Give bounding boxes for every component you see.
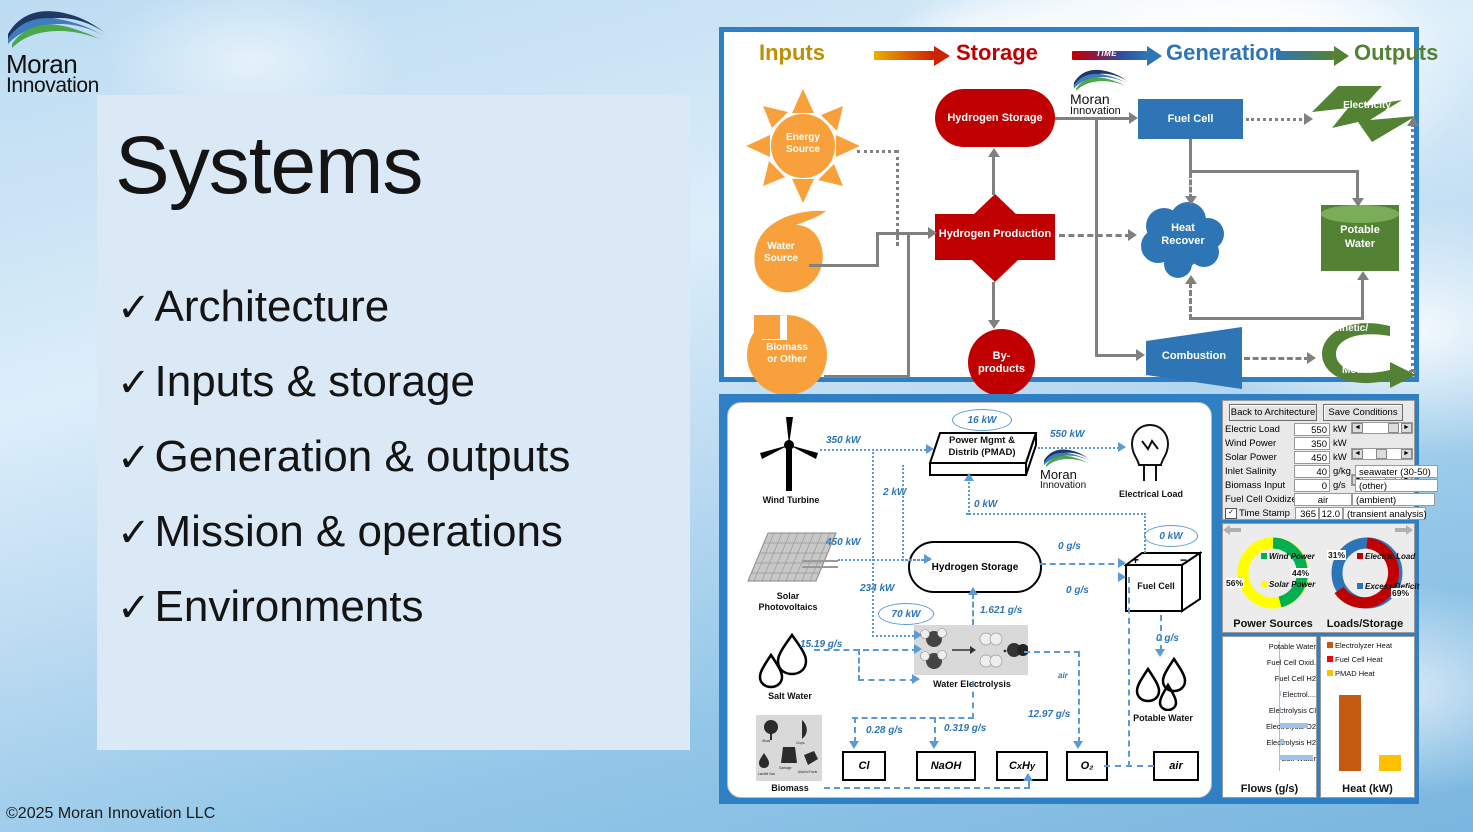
flow-pmad-to-electrolysis: 234 kW [860,583,894,594]
logo-wave-icon [1040,447,1094,469]
box-o2: O₂ [1066,751,1108,781]
flows-category-label: Fuel Cell H2 [1262,674,1316,683]
line-electrolysis-o2 [1024,651,1080,653]
control-label: Fuel Cell Oxidizer [1225,494,1294,505]
control-unit: kW [1330,452,1355,463]
pct-electric-load: 69% [1391,588,1410,598]
arrowhead-electrolysis-in [914,630,922,640]
connector-fuelcell-to-electricity [1246,118,1308,121]
arrowhead-o2-in [1073,741,1083,749]
svg-text:Crops: Crops [796,741,805,745]
connector-storage-to-fuelcell [1055,117,1131,120]
flow-pmad-to-load: 550 kW [1050,429,1084,440]
electric-load-slider[interactable]: ◄ ► [1351,422,1413,434]
list-item-label: Environments [155,570,424,644]
check-icon: ✓ [117,346,151,420]
logo-line-1: Moran [6,52,106,76]
hydrogen-production-top-point [972,194,1018,216]
list-item-label: Architecture [155,270,390,344]
line-products-bus [852,717,974,719]
connector-production-to-byproducts [992,282,995,322]
node-potable-water-label: PotableWater [1321,223,1399,251]
legend-swatch [1357,583,1363,589]
control-label: Electric Load [1225,424,1294,435]
control-label: Inlet Salinity [1225,466,1294,477]
logo-wave-icon [6,6,106,52]
arrowhead-fc-in-air [1118,572,1126,582]
connector-water-to-production [809,264,879,267]
flows-bar [1280,739,1284,744]
biomass-collage-icon: WoodCrops Garbage Landfill GasAlcohol Fu… [756,715,822,781]
arrowhead-heat-in-2 [1185,275,1197,284]
node-fuel-cell: Fuel Cell [1138,99,1243,139]
time-stamp-checkbox[interactable]: ✓ [1225,508,1237,519]
fuel-cell-oxidizer-field[interactable]: air [1294,493,1352,506]
legend-swatch [1327,656,1333,662]
list-item: ✓ Mission & operations [117,495,677,570]
control-unit: g/s [1330,480,1355,491]
list-item: ✓ Architecture [117,270,677,345]
connector-water-riser [876,232,879,267]
arch-header-inputs: Inputs [759,40,825,66]
flows-bar [1280,707,1281,712]
flows-bar-chart: Potable Water Fuel Cell Oxid. Fuel Cell … [1222,636,1317,798]
arrowhead-pmad-in-wind [926,444,934,454]
arrow-generation-to-outputs [1276,51,1334,60]
check-icon: ✓ [117,496,151,570]
potable-water-drops-icon [1134,657,1190,711]
flows-category-label: Fuel Cell Oxid. [1262,658,1316,667]
back-to-architecture-button[interactable]: Back to Architecture [1229,404,1317,421]
legend-swatch [1261,553,1267,559]
arrowhead-production-in [928,227,937,239]
control-row-biomass-input: Biomass Input 0 g/s (other) [1225,478,1438,492]
node-biomass: Biomassor Other [746,342,828,366]
flows-category-label: Electrolysis Cl [1262,706,1316,715]
line-salt-water-to-electrolysis [858,679,916,681]
logo-line-2: Innovation [1040,481,1094,491]
legend-electrolyzer-heat: Electrolyzer Heat [1327,641,1392,650]
arch-header-generation: Generation [1166,40,1282,66]
arrowhead-storage-in-sch [924,554,932,564]
pct-wind-power: 44% [1291,568,1310,578]
line-electrolysis-down [972,681,974,719]
flow-o2-to-fc: 0 g/s [1066,585,1089,596]
control-row-electric-load: Electric Load 550 kW [1225,422,1355,436]
logo-wave-icon [1070,67,1132,93]
node-hydrogen-storage-sch: Hydrogen Storage [908,541,1042,593]
logo-line-2: Innovation [1070,106,1132,117]
solar-power-field[interactable]: 450 [1294,451,1330,464]
label-solar-pv: SolarPhotovoltaics [742,591,834,613]
control-row-fuel-cell-oxidizer: Fuel Cell Oxidizer air (ambient) [1225,492,1435,506]
arrowhead-fc-in-h2 [1118,558,1126,568]
flow-naoh-out: 0.319 g/s [944,723,986,734]
biomass-input-field[interactable]: 0 [1294,479,1330,492]
label-salt-water: Salt Water [750,691,830,701]
moran-innovation-logo: Moran Innovation [6,6,106,96]
arrowhead-electricity-in [1304,113,1313,125]
box-air: air [1153,751,1199,781]
pct-solar-power: 56% [1225,578,1244,588]
slider-right-arrow[interactable]: ► [1401,449,1412,459]
list-item: ✓ Generation & outputs [117,420,677,495]
arrowhead-pmad-in-fc [964,473,974,481]
fuel-cell-minus-terminal: − [1180,553,1187,567]
slider-right-arrow[interactable]: ► [1401,423,1412,433]
arrowhead-naoh-in [929,741,939,749]
control-row-solar-power: Solar Power 450 kW [1225,450,1355,464]
label-potable-water-sch: Potable Water [1120,713,1206,723]
control-row-wind-power: Wind Power 350 kW [1225,436,1355,450]
connector-biomass [824,375,910,378]
arrowhead-cl-in [849,741,859,749]
flow-wind-to-pmad: 350 kW [826,435,860,446]
legend-swatch [1327,642,1333,648]
wind-turbine-icon [758,415,820,493]
control-row-time-stamp: ✓ Time Stamp 365 12.0 (transient analysi… [1225,506,1426,520]
arrowhead-potable-in-2 [1357,271,1369,280]
architecture-logo: Moran Innovation [1070,67,1132,117]
connector-to-combustion [1095,354,1139,357]
conditions-control-panel: Back to Architecture Save Conditions Ele… [1222,400,1415,520]
node-hydrogen-production-label: Hydrogen Production [935,228,1055,240]
electric-load-field[interactable]: 550 [1294,423,1330,436]
flow-solar-to-pmad: 450 kW [826,537,860,548]
electricity-bolt-icon [1312,84,1424,144]
fuel-cell-oxidizer-note: (ambient) [1352,493,1435,506]
node-electricity: Electricity [1324,100,1410,111]
control-label: Solar Power [1225,452,1294,463]
flows-category-label: Electrolysis H2 [1262,738,1316,747]
page-title: Systems [115,123,422,209]
legend-pmad-heat: PMAD Heat [1327,669,1375,678]
inlet-salinity-note: seawater (30-50) [1355,465,1438,478]
line-pmad-to-load [1038,447,1122,449]
node-combustion: Combustion [1146,350,1242,362]
connector-biomass-riser [907,235,910,378]
biomass-input-note: (other) [1355,479,1438,492]
svg-text:Landfill Gas: Landfill Gas [758,772,775,776]
line-salt-water-in [814,649,918,651]
heat-bar-electrolyzer [1339,695,1361,771]
label-wind-turbine: Wind Turbine [746,495,836,505]
connector-combustion-to-heat [1189,282,1192,320]
arrow-inputs-to-storage [874,51,934,60]
donut-charts-widget: Wind Power Solar Power 44% 56% Power Sou… [1222,523,1415,633]
label-biomass: Biomass [758,783,822,793]
check-icon: ✓ [117,571,151,645]
control-unit: kW [1330,438,1355,449]
cylinder-top [1321,205,1399,223]
wind-power-slider[interactable]: ◄ ► [1351,448,1413,460]
dashboard-panel: Wind Turbine SolarPhotovoltaics [719,394,1419,804]
node-heat-recover: HeatRecover [1138,222,1228,248]
arrowhead-electrolysis-in-water [914,644,922,654]
box-cl: Cl [842,751,886,781]
time-label: TIME [1096,49,1117,58]
legend-electric-load: Electric Load [1357,552,1415,561]
box-naoh: NaOH [916,751,976,781]
flow-electrolysis-heat: 70 kW [892,609,921,620]
connector-production-to-storage [992,155,995,195]
label-fuel-cell-sch: Fuel Cell [1126,581,1186,591]
arch-header-outputs: Outputs [1354,40,1438,66]
control-label: Time Stamp [1239,508,1295,519]
heat-bar-chart: Electrolyzer Heat Fuel Cell Heat PMAD He… [1320,636,1415,798]
line-to-cl [854,717,856,743]
node-water-source: WaterSource [750,241,812,265]
time-stamp-hour-field[interactable]: 12.0 [1319,507,1343,520]
line-solar-riser [872,449,874,561]
line-o2-down [1078,651,1080,743]
heat-chart-title: Heat (kW) [1321,783,1414,795]
list-item-label: Inputs & storage [155,345,475,419]
arrowhead-potable-in [1352,198,1364,207]
water-electrolysis-icon [914,625,1028,675]
arrowhead-kinetic-in [1307,352,1316,364]
line-fc-to-pmad-h [966,513,1146,515]
time-stamp-note: (transient analysis) [1343,507,1426,520]
arch-header-storage: Storage [956,40,1038,66]
legend-swatch [1357,553,1363,559]
arrow-inputs-to-storage-tip [934,46,950,66]
arrowhead-combustion-in [1136,349,1145,361]
svg-text:Garbage: Garbage [779,766,792,770]
flow-pmad-loss: 16 kW [968,415,997,426]
connector-combustion-to-potable [1361,278,1364,320]
arrowhead-electricity-return [1407,117,1419,126]
line-fc-to-potable [1160,615,1162,651]
node-byproducts: By-products [968,329,1035,396]
connector-fuelcell-bus [1189,170,1359,173]
arrowhead-byproducts-in [988,320,1000,329]
list-item: ✓ Environments [117,570,677,645]
connector-combustion-to-kinetic [1244,357,1310,360]
loads-storage-title: Loads/Storage [1317,618,1413,630]
fuel-cell-plus-terminal: + [1132,553,1139,567]
flow-o2-out: 12.97 g/s [1028,709,1070,720]
list-item-label: Generation & outputs [155,420,571,494]
line-fc-riser [1144,513,1146,553]
arrowhead-storage-in [988,148,1000,157]
flows-bar [1280,723,1308,728]
arrowhead-heat-recover-in [1185,196,1197,205]
slider-thumb[interactable] [1376,449,1387,459]
label-pmad: Power Mgmt &Distrib (PMAD) [932,435,1032,459]
arrowhead-electrolysis-in-salt [912,674,920,684]
line-pmad-to-storage-v [902,465,904,561]
bullet-list: ✓ Architecture ✓ Inputs & storage ✓ Gene… [117,270,677,645]
slider-left-arrow[interactable]: ◄ [1352,423,1363,433]
flows-bar [1280,691,1281,696]
arrowhead-load-in [1118,442,1126,452]
check-icon: ✓ [117,421,151,495]
line-air-riser [1128,577,1130,767]
logo-line-2: Innovation [6,76,106,96]
svg-text:Alcohol Fuels: Alcohol Fuels [798,770,818,774]
system-schematic: Wind Turbine SolarPhotovoltaics [727,402,1212,798]
arrow-generation-to-outputs-tip [1334,46,1349,66]
wind-power-field[interactable]: 350 [1294,437,1330,450]
line-wind-pmad [820,449,930,451]
legend-solar-power: Solar Power [1261,580,1315,589]
connector-production-to-heat [1059,234,1131,237]
flows-category-label: Electrol.... [1262,690,1316,699]
node-hydrogen-storage: Hydrogen Storage [935,89,1055,147]
list-item: ✓ Inputs & storage [117,345,677,420]
arrowhead-heat-in [1128,229,1137,241]
flows-bar [1280,755,1313,760]
node-kinetic: Kinetic/ [1332,323,1368,334]
loads-storage-donut [1323,534,1411,612]
slide-canvas: Moran Innovation Systems ✓ Architecture … [0,0,1473,832]
flow-cl-out: 0.28 g/s [866,725,903,736]
control-unit: g/kg [1330,466,1355,477]
svg-text:Wood: Wood [762,739,770,743]
flows-category-label: Potable Water [1262,642,1316,651]
flow-h2-to-fc: 0 g/s [1058,541,1081,552]
line-electrolysis-to-storage [972,593,974,625]
connector-rail-vertical [896,150,899,245]
label-electrical-load: Electrical Load [1114,489,1188,499]
legend-wind-power: Wind Power [1261,552,1315,561]
check-icon: ✓ [117,271,151,345]
power-sources-title: Power Sources [1225,618,1321,630]
line-biomass-out [824,787,1030,789]
electrolysis-heat-cloud: 70 kW [878,603,934,625]
inlet-salinity-field[interactable]: 40 [1294,465,1330,478]
legend-swatch [1261,581,1267,587]
flows-chart-title: Flows (g/s) [1223,783,1316,795]
connector-to-production [876,232,931,235]
arrowhead-storage-in-h2 [968,587,978,595]
control-label: Biomass Input [1225,480,1294,491]
hydrogen-production-bottom-point [972,260,1018,282]
flow-fc-heat: 0 kW [1159,531,1182,542]
box-cxhy: CxHy [996,751,1048,781]
legend-swatch [1327,670,1333,676]
line-fc-to-pmad-v [968,479,970,515]
connector-storage-to-combustion [1095,117,1098,357]
control-row-inlet-salinity: Inlet Salinity 40 g/kg seawater (30-50) [1225,464,1438,478]
connector-energy-to-rail [857,150,897,153]
connector-combustion-bus [1189,317,1364,320]
connector-motive-return-v [1411,124,1414,372]
slider-thumb[interactable] [1388,423,1399,433]
fuel-cell-heat-cloud: 0 kW [1144,525,1198,547]
flow-air-stream: air [1058,671,1068,680]
legend-fuel-cell-heat: Fuel Cell Heat [1327,655,1383,664]
line-salt-water-down [858,649,860,681]
content-panel: Systems ✓ Architecture ✓ Inputs & storag… [97,95,690,750]
pct-excess-deficit: 31% [1327,550,1346,560]
copyright-footer: ©2025 Moran Innovation LLC [6,805,215,823]
line-to-naoh [934,717,936,743]
schematic-logo: Moran Innovation [1040,447,1094,491]
flow-fc-to-pmad: 0 kW [974,499,997,510]
connector-fuelcell-down [1189,139,1192,172]
heat-bar-pmad [1379,755,1401,771]
line-storage-to-fc [1040,563,1124,565]
save-conditions-button[interactable]: Save Conditions [1323,404,1403,421]
flow-electrolysis-h2: 1.621 g/s [980,605,1022,616]
electrical-load-bulb-icon [1128,423,1172,485]
architecture-diagram-panel: Inputs Storage TIME Generation Outputs M… [719,27,1419,382]
solar-pv-icon [746,531,838,597]
control-label: Wind Power [1225,438,1294,449]
node-energy-source: EnergySource [772,132,834,156]
arrow-storage-to-generation-tip [1147,46,1162,66]
list-item-label: Mission & operations [155,495,563,569]
time-stamp-day-field[interactable]: 365 [1295,507,1319,520]
node-motive: Motive [1342,365,1374,376]
arrowhead-cxhy-in [1023,773,1033,781]
pmad-loss-cloud: 16 kW [952,409,1012,431]
line-to-electrolysis-h [872,635,918,637]
node-potable-water: PotableWater [1321,205,1399,271]
arrowhead-fuelcell-in [1129,112,1138,124]
arrowhead-potable-in-sch [1155,649,1165,657]
line-to-electrolysis-v [872,559,874,637]
